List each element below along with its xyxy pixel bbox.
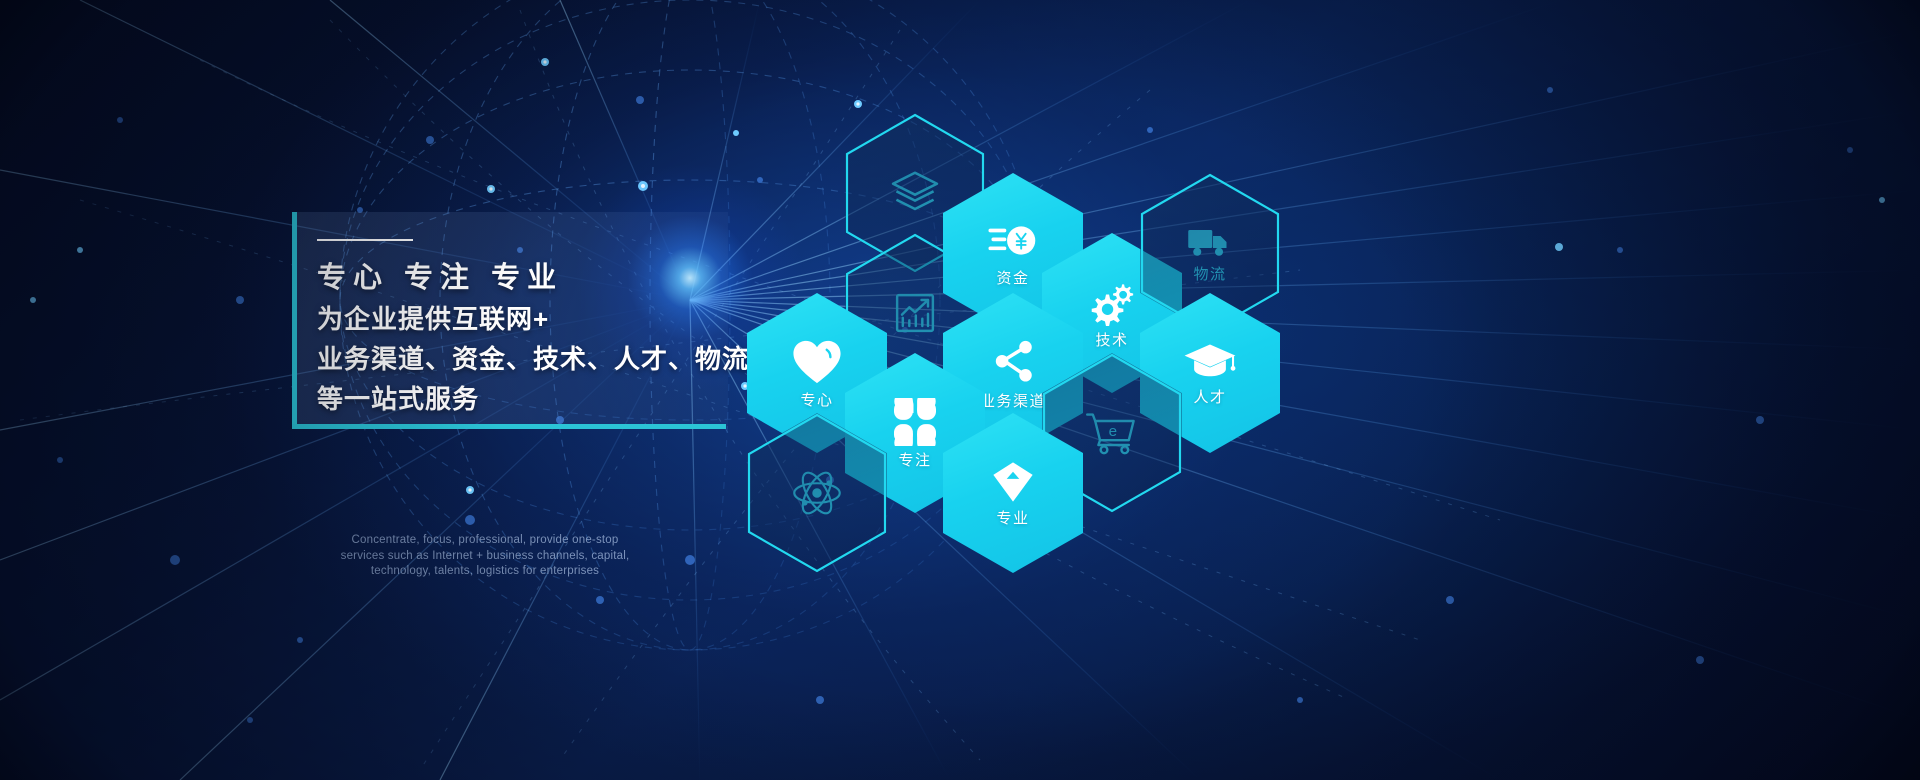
headline-line-4: 等一站式服务 [317,379,479,416]
headline-rule [317,239,413,241]
headline-underline [292,424,726,429]
hex-pro-label: 专业 [996,511,1029,526]
graduation-cap-icon [1183,341,1237,383]
yen-coin-icon [987,220,1039,264]
gears-icon [1088,278,1136,326]
headline-line-3: 业务渠道、资金、技术、人才、物流 [317,339,749,376]
hex-talents-label: 人才 [1193,390,1226,405]
headline-line-2: 为企业提供互联网+ [317,299,549,336]
hex-tech-label: 技术 [1095,333,1128,348]
hex-funds-label: 资金 [996,271,1029,286]
clover-icon [891,398,939,446]
share-nodes-icon [988,337,1038,387]
headline-subtitle-english: Concentrate, focus, professional, provid… [330,533,640,580]
hex-attention-label: 专注 [898,453,931,468]
headline-panel: 专心 专注 专业 为企业提供互联网+ 业务渠道、资金、技术、人才、物流 等一站式… [292,212,728,429]
diamond-icon [991,460,1035,504]
hex-focus-label: 专心 [800,393,833,408]
headline-line-1: 专心 专注 专业 [317,254,563,296]
hex-channels-label: 业务渠道 [980,394,1046,409]
heart-icon [791,338,843,386]
hero-banner: 专心 专注 专业 为企业提供互联网+ 业务渠道、资金、技术、人才、物流 等一站式… [0,0,1920,780]
